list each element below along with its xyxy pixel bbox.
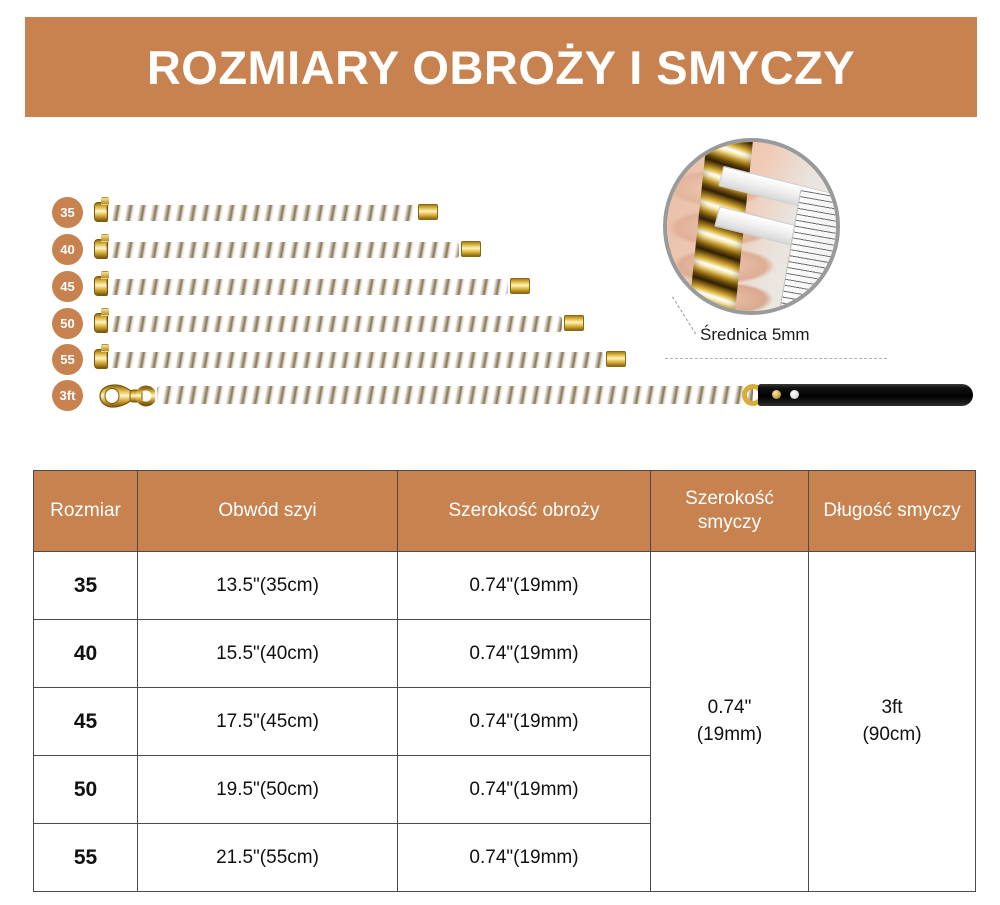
chain-clasp-icon: [564, 315, 584, 331]
column-header-collar-width: Szerokość obroży: [398, 471, 651, 552]
handle-rivet-gold-icon: [772, 390, 781, 399]
chain-links: [106, 279, 508, 295]
chain-clasp-icon: [418, 204, 438, 220]
cell-neck: 15.5"(40cm): [138, 620, 398, 688]
chain-clasp-icon: [461, 241, 481, 257]
leash-length-metric: (90cm): [810, 722, 974, 749]
size-badge-55: 55: [52, 344, 83, 375]
column-header-neck: Obwód szyi: [138, 471, 398, 552]
diameter-label: Średnica 5mm: [700, 325, 810, 345]
handle-rivet-silver-icon: [790, 390, 799, 399]
collar-chain-35: [98, 202, 438, 224]
callout-underline: [665, 358, 887, 359]
size-badge-45: 45: [52, 271, 83, 302]
size-badge-label: 55: [60, 353, 74, 366]
leash-length-value: 3ft: [810, 695, 974, 722]
cell-size: 50: [34, 756, 138, 824]
collar-chain-45: [98, 276, 530, 298]
cell-neck: 17.5"(45cm): [138, 688, 398, 756]
cell-size: 45: [34, 688, 138, 756]
header-banner: ROZMIARY OBROŻY I SMYCZY: [25, 17, 977, 117]
size-table: Rozmiar Obwód szyi Szerokość obroży Szer…: [33, 470, 976, 892]
chain-loop-icon: [101, 197, 109, 205]
cell-size: 35: [34, 552, 138, 620]
size-badge-label: 50: [60, 317, 74, 330]
cell-collar-width: 0.74"(19mm): [398, 824, 651, 892]
cell-collar-width: 0.74"(19mm): [398, 756, 651, 824]
cell-collar-width: 0.74"(19mm): [398, 688, 651, 756]
chain-loop-icon: [101, 234, 109, 242]
chain-links: [106, 242, 459, 258]
cell-neck: 19.5"(50cm): [138, 756, 398, 824]
chain-links: [157, 386, 753, 404]
product-diagram: 35 40 45 50 55: [0, 125, 1000, 455]
cell-neck: 13.5"(35cm): [138, 552, 398, 620]
cell-collar-width: 0.74"(19mm): [398, 620, 651, 688]
cell-leash-width: 0.74" (19mm): [651, 552, 809, 892]
lobster-clasp-icon: [99, 381, 155, 411]
size-badge-50: 50: [52, 308, 83, 339]
leash-handle: [758, 384, 973, 406]
chain-loop-icon: [101, 344, 109, 352]
chain-clasp-icon: [606, 351, 626, 367]
chain-links: [106, 316, 562, 332]
cell-neck: 21.5"(55cm): [138, 824, 398, 892]
collar-chain-40: [98, 239, 481, 261]
chain-clasp-icon: [510, 278, 530, 294]
chain-loop-icon: [101, 308, 109, 316]
leash-width-value: 0.74": [652, 695, 807, 722]
size-badge-label: 3ft: [60, 389, 76, 402]
size-badge-label: 35: [60, 206, 74, 219]
size-badge-label: 45: [60, 280, 74, 293]
page-title: ROZMIARY OBROŻY I SMYCZY: [147, 40, 855, 95]
chain-loop-icon: [101, 271, 109, 279]
cell-leash-length: 3ft (90cm): [809, 552, 976, 892]
size-badge-label: 40: [60, 243, 74, 256]
size-badge-3ft: 3ft: [52, 380, 83, 411]
chain-links: [106, 352, 604, 368]
size-badge-35: 35: [52, 197, 83, 228]
collar-chain-55: [98, 349, 626, 371]
table-header-row: Rozmiar Obwód szyi Szerokość obroży Szer…: [34, 471, 976, 552]
column-header-leash-width: Szerokość smyczy: [651, 471, 809, 552]
leash-width-metric: (19mm): [652, 722, 807, 749]
leash-chain-3ft: [103, 382, 753, 408]
cell-size: 40: [34, 620, 138, 688]
size-badge-40: 40: [52, 234, 83, 265]
column-header-size: Rozmiar: [34, 471, 138, 552]
table-row: 35 13.5"(35cm) 0.74"(19mm) 0.74" (19mm) …: [34, 552, 976, 620]
column-header-leash-length: Długość smyczy: [809, 471, 976, 552]
cell-size: 55: [34, 824, 138, 892]
collar-chain-50: [98, 313, 584, 335]
cell-collar-width: 0.74"(19mm): [398, 552, 651, 620]
chain-links: [106, 205, 416, 221]
